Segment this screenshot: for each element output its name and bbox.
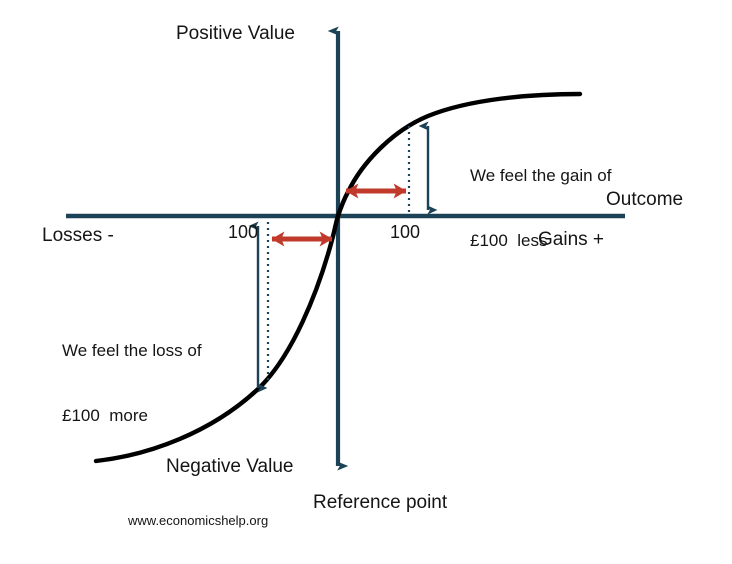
loss-annotation-line1: We feel the loss of (62, 340, 202, 362)
y-axis-top-label: Positive Value (176, 22, 295, 46)
loss-tick-label: 100 (228, 221, 258, 244)
loss-annotation-line2: £100 more (62, 405, 202, 427)
gain-tick-label: 100 (390, 221, 420, 244)
reference-point-label: Reference point (313, 491, 447, 515)
gain-annotation-line2: £100 less (470, 230, 611, 252)
x-axis-right-label: Outcome (606, 188, 683, 212)
value-function-diagram (0, 0, 732, 564)
loss-annotation: We feel the loss of £100 more (62, 296, 202, 470)
diagram-canvas: Positive Value Outcome Losses - Gains + … (0, 0, 732, 564)
gain-annotation: We feel the gain of £100 less (470, 121, 611, 295)
x-axis-left-label: Losses - (42, 224, 114, 248)
source-credit: www.economicshelp.org (128, 513, 268, 530)
gain-annotation-line1: We feel the gain of (470, 165, 611, 187)
